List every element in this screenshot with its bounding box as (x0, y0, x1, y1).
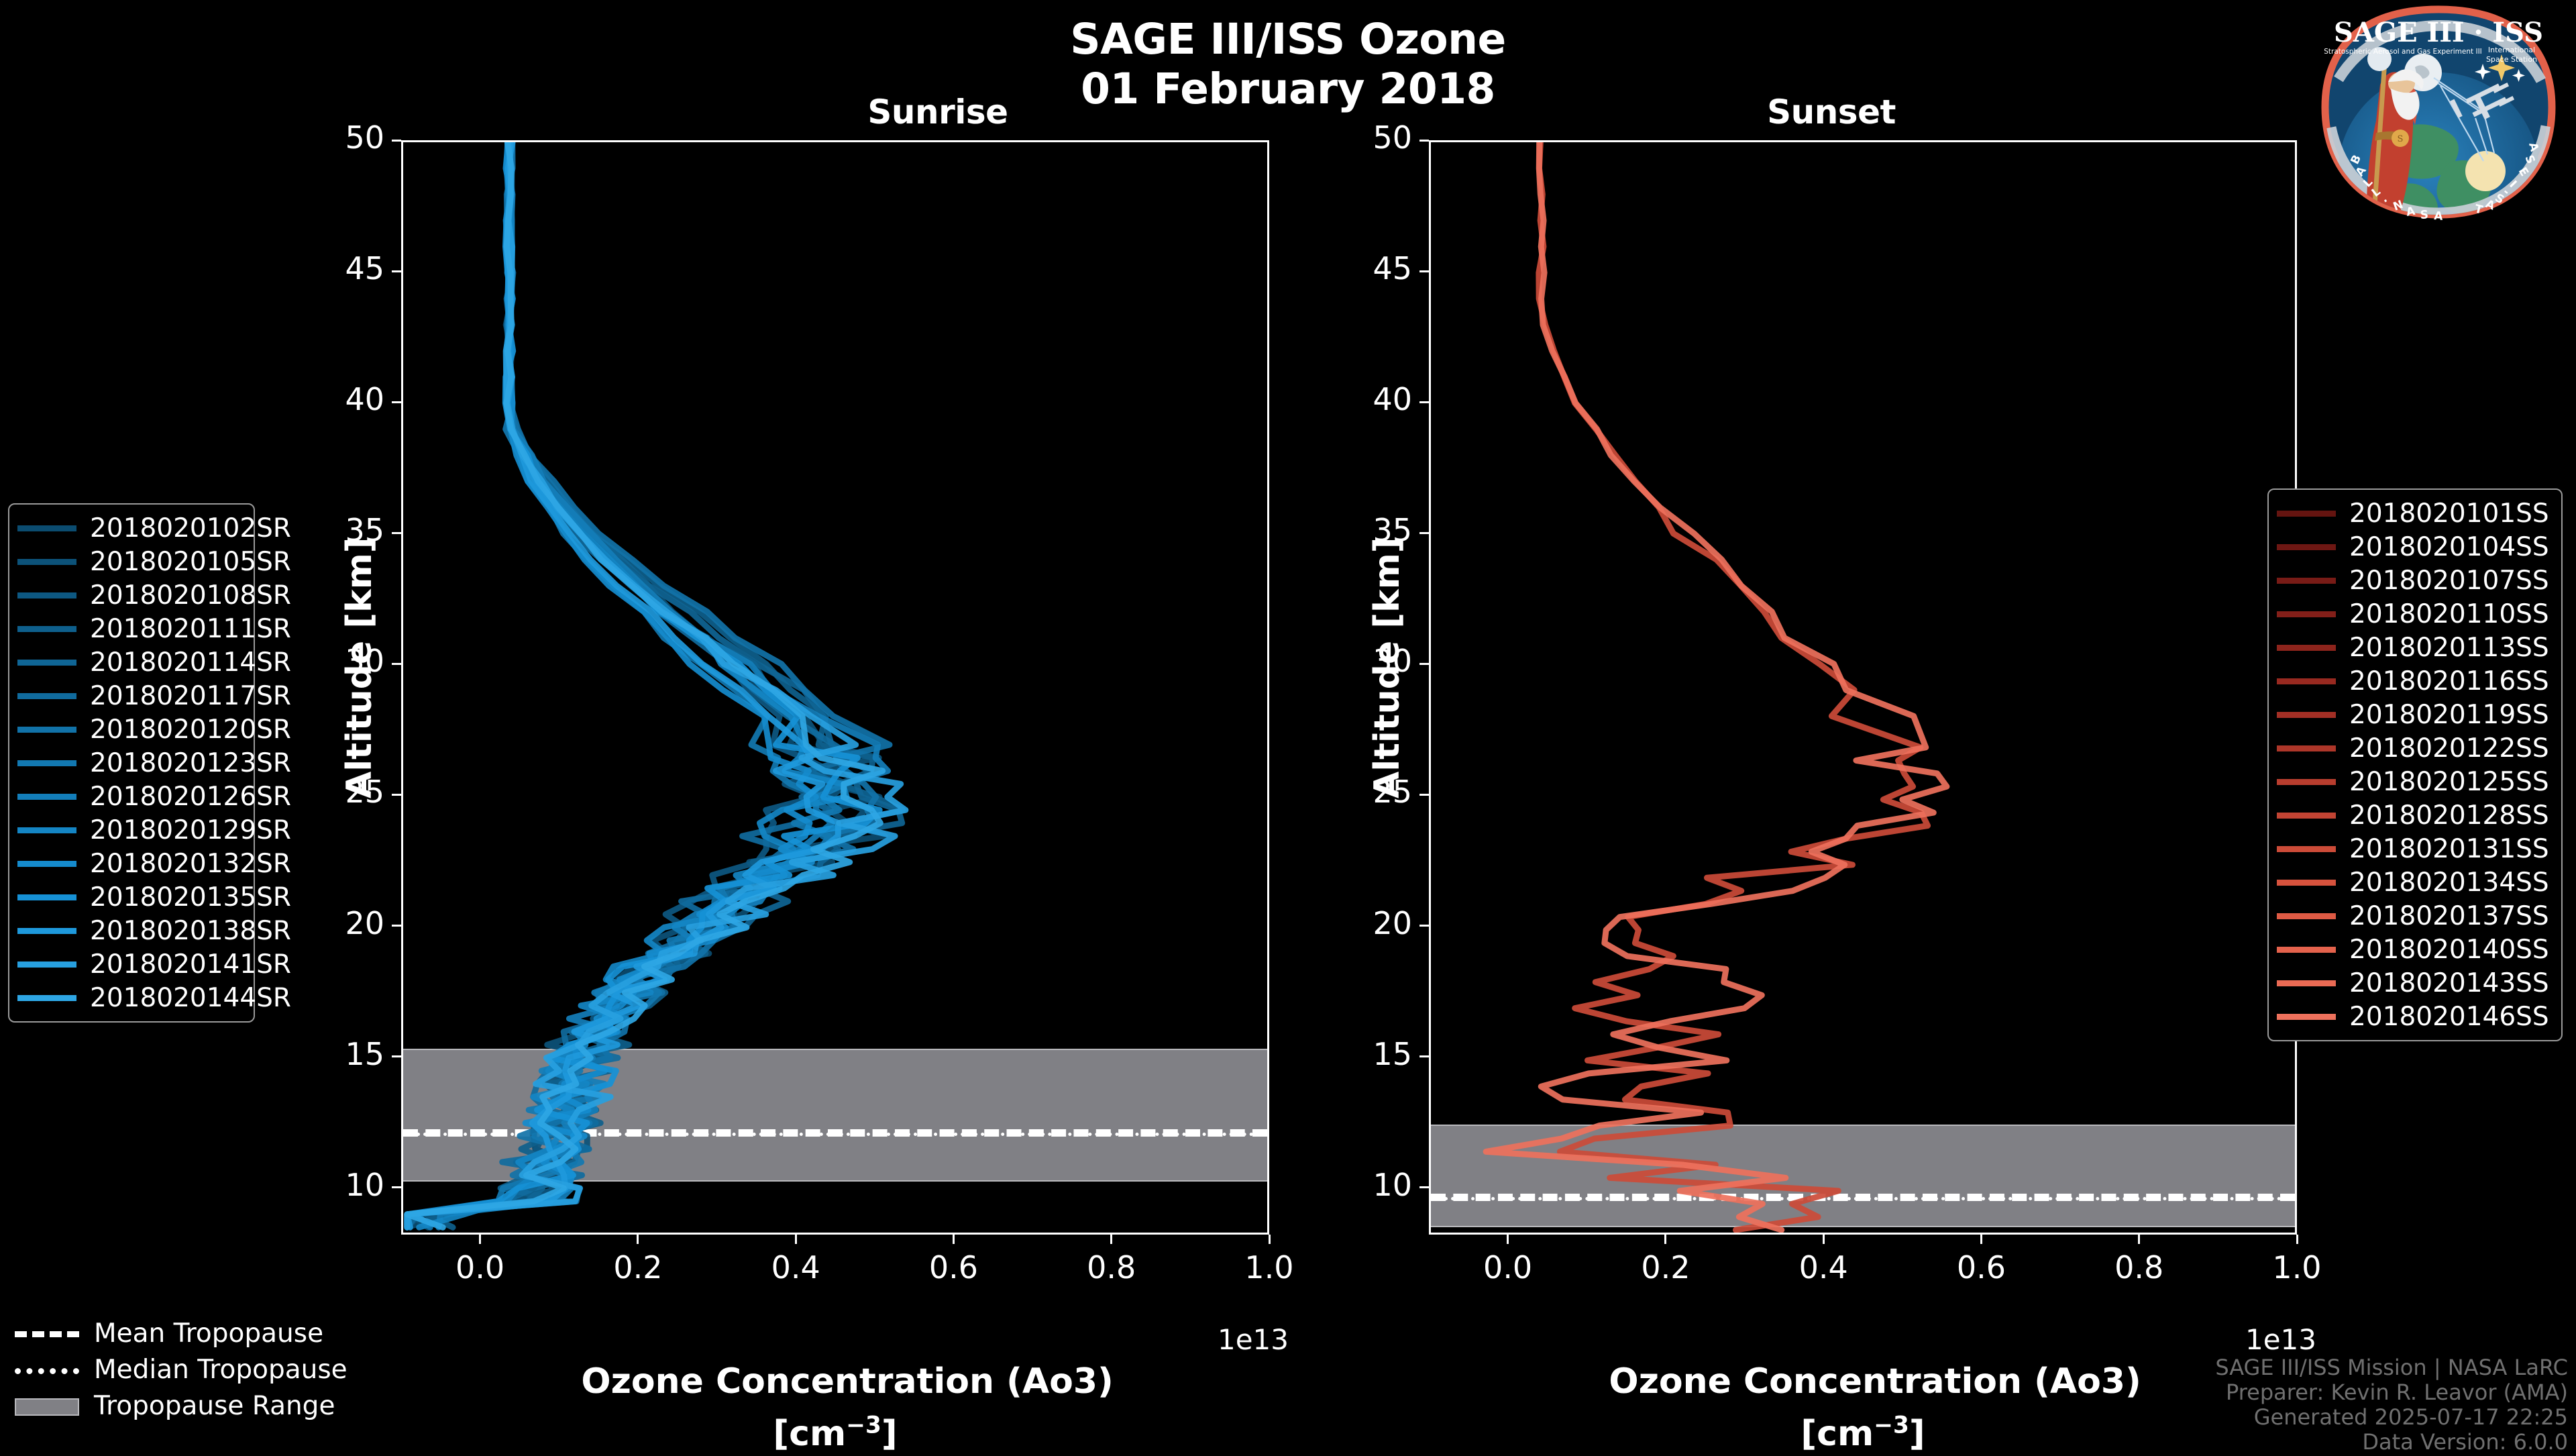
legend-sunset[interactable]: 2018020101SS2018020104SS2018020107SS2018… (2267, 488, 2563, 1041)
legend-item-label: 2018020125SS (2349, 767, 2549, 797)
tropopause-key-label: Mean Tropopause (94, 1318, 323, 1349)
y-tick-label-15: 15 (1275, 1036, 1412, 1072)
profile-line (407, 142, 879, 1227)
legend-item-label: 2018020138SR (90, 916, 291, 946)
legend-item-label: 2018020120SR (90, 715, 291, 745)
legend-item-label: 2018020105SR (90, 547, 291, 577)
profile-line (1486, 142, 1947, 1230)
y-tick-label-20: 20 (1275, 905, 1412, 941)
legend-color-swatch (2277, 779, 2336, 785)
plot-area-sunset (1429, 140, 2297, 1235)
legend-item-label: 2018020137SS (2349, 901, 2549, 931)
credits-block: SAGE III/ISS Mission | NASA LaRC Prepare… (2215, 1355, 2568, 1455)
x-tick-mark (2296, 1235, 2298, 1244)
legend-color-swatch (2277, 645, 2336, 651)
profile-line (1539, 142, 1928, 1230)
x-axis-label-text-sunrise: Ozone Concentration (Ao3) (581, 1361, 1113, 1402)
credits-line-1: SAGE III/ISS Mission | NASA LaRC (2215, 1355, 2568, 1380)
y-tick-mark (392, 663, 401, 665)
y-tick-mark (392, 794, 401, 796)
x-tick-label-0.8: 0.8 (1044, 1249, 1179, 1286)
legend-item-label: 2018020131SS (2349, 834, 2549, 864)
tropopause-key-label: Median Tropopause (94, 1355, 347, 1385)
legend-color-swatch (17, 592, 76, 599)
marker-glyph (15, 1368, 79, 1374)
legend-item-label: 2018020143SS (2349, 968, 2549, 998)
legend-color-swatch (17, 961, 76, 968)
legend-color-swatch (2277, 980, 2336, 986)
ozone-profile-curves-sunrise (403, 142, 1267, 1233)
title-line-1: SAGE III/ISS Ozone (1070, 15, 1506, 64)
legend-item-label: 2018020132SR (90, 849, 291, 879)
legend-color-swatch (17, 894, 76, 900)
legend-item-label: 2018020128SS (2349, 800, 2549, 831)
legend-color-swatch (2277, 913, 2336, 919)
x-tick-label-0.4: 0.4 (1756, 1249, 1890, 1286)
sage3-iss-mission-patch-logo: S SAGE III · ISS Stratospheric Aerosol a… (2316, 5, 2561, 220)
x-tick-mark (1110, 1235, 1112, 1244)
legend-item-label: 2018020129SR (90, 815, 291, 845)
y-tick-label-50: 50 (247, 119, 384, 156)
legend-color-swatch (17, 928, 76, 934)
legend-sunrise-item[interactable]: 2018020129SR (17, 813, 244, 847)
legend-color-swatch (2277, 947, 2336, 953)
x-tick-label-0.2: 0.2 (571, 1249, 705, 1286)
y-tick-label-40: 40 (1275, 381, 1412, 417)
plot-area-sunrise (401, 140, 1269, 1235)
y-tick-mark (1419, 532, 1429, 534)
profile-line (411, 142, 879, 1227)
legend-sunrise[interactable]: 2018020102SR2018020105SR2018020108SR2018… (8, 503, 255, 1023)
tropopause-key-item[interactable]: Mean Tropopause (15, 1315, 330, 1351)
legend-color-swatch (17, 559, 76, 565)
x-tick-label-0.0: 0.0 (413, 1249, 547, 1286)
x-tick-label-0.8: 0.8 (2072, 1249, 2206, 1286)
credits-line-4: Data Version: 6.0.0 (2362, 1429, 2568, 1455)
legend-item-label: 2018020116SS (2349, 666, 2549, 696)
legend-item-label: 2018020123SR (90, 748, 291, 778)
legend-color-swatch (17, 827, 76, 833)
legend-sunrise-item[interactable]: 2018020144SR (17, 981, 244, 1015)
x-tick-label-0.6: 0.6 (1914, 1249, 2048, 1286)
logo-title-text: SAGE III · ISS (2334, 17, 2543, 48)
x-tick-label-1.0: 1.0 (1202, 1249, 1336, 1286)
legend-color-swatch (17, 693, 76, 699)
legend-item-label: 2018020108SR (90, 580, 291, 611)
y-tick-mark (392, 401, 401, 403)
y-tick-label-10: 10 (247, 1167, 384, 1203)
legend-color-swatch (2277, 578, 2336, 584)
y-tick-mark (1419, 1186, 1429, 1188)
legend-item-label: 2018020104SS (2349, 532, 2549, 562)
y-tick-mark (392, 270, 401, 272)
legend-color-swatch (2277, 880, 2336, 886)
legend-sunrise-item[interactable]: 2018020132SR (17, 847, 244, 880)
legend-item-label: 2018020110SS (2349, 599, 2549, 629)
ozone-profile-curves-sunset (1431, 142, 2295, 1233)
y-tick-mark (1419, 925, 1429, 927)
legend-sunrise-item[interactable]: 2018020108SR (17, 578, 244, 612)
legend-sunset-item[interactable]: 2018020104SS (2277, 530, 2552, 564)
legend-sunset-item[interactable]: 2018020101SS (2277, 497, 2552, 530)
logo-subtitle-right-2: Space Station (2486, 55, 2537, 64)
y-tick-label-10: 10 (1275, 1167, 1412, 1203)
x-axis-label-sunset: Ozone Concentration (Ao3)[cm−3] (1429, 1315, 2297, 1456)
legend-sunset-item[interactable]: 2018020119SS (2277, 698, 2552, 731)
profile-line (407, 142, 883, 1227)
legend-color-swatch (2277, 678, 2336, 684)
x-tick-mark (1664, 1235, 1666, 1244)
y-tick-mark (1419, 140, 1429, 142)
legend-sunset-item[interactable]: 2018020140SS (2277, 933, 2552, 966)
tropopause-key-marker-dashed (15, 1326, 79, 1341)
y-tick-mark (1419, 794, 1429, 796)
legend-item-label: 2018020135SR (90, 882, 291, 913)
legend-item-label: 2018020114SR (90, 647, 291, 678)
x-tick-mark (2138, 1235, 2140, 1244)
x-tick-label-0.2: 0.2 (1599, 1249, 1733, 1286)
legend-sunset-item[interactable]: 2018020137SS (2277, 899, 2552, 933)
subplot-title-sunrise: Sunrise (602, 93, 1273, 132)
x-tick-mark (1980, 1235, 1982, 1244)
legend-item-label: 2018020126SR (90, 782, 291, 812)
legend-sunrise-item[interactable]: 2018020120SR (17, 713, 244, 746)
svg-text:S: S (2420, 208, 2428, 220)
legend-color-swatch (2277, 544, 2336, 550)
legend-item-label: 2018020141SR (90, 949, 291, 980)
x-axis-label-sunrise: Ozone Concentration (Ao3)[cm−3] (401, 1315, 1269, 1456)
x-tick-label-0.6: 0.6 (886, 1249, 1020, 1286)
legend-color-swatch (2277, 1014, 2336, 1020)
legend-sunrise-item[interactable]: 2018020105SR (17, 545, 244, 578)
svg-text:A: A (2434, 209, 2444, 220)
legend-color-swatch (17, 626, 76, 632)
profile-line (407, 142, 890, 1227)
legend-color-swatch (2277, 611, 2336, 617)
x-axis-label-text-sunset: Ozone Concentration (Ao3) (1609, 1361, 2141, 1402)
legend-color-swatch (2277, 712, 2336, 718)
legend-item-label: 2018020146SS (2349, 1002, 2549, 1032)
legend-sunrise-item[interactable]: 2018020123SR (17, 746, 244, 780)
legend-sunset-item[interactable]: 2018020128SS (2277, 798, 2552, 832)
x-axis-units-sunset: [cm−3] (1801, 1414, 1925, 1454)
tropopause-key-marker-patch (15, 1398, 79, 1413)
x-axis-exponent-sunrise: 1e13 (1218, 1323, 1289, 1356)
x-tick-mark (637, 1235, 639, 1244)
legend-color-swatch (17, 660, 76, 666)
legend-sunrise-item[interactable]: 2018020117SR (17, 679, 244, 713)
y-tick-label-45: 45 (1275, 250, 1412, 287)
legend-item-label: 2018020119SS (2349, 700, 2549, 730)
tropopause-key-marker-dotted (15, 1362, 79, 1377)
legend-color-swatch (17, 794, 76, 800)
y-tick-mark (1419, 401, 1429, 403)
logo-subtitle-right-1: International (2488, 46, 2535, 54)
profile-line (407, 142, 902, 1227)
credits-line-3: Generated 2025-07-17 22:25 (2254, 1404, 2568, 1430)
x-tick-mark (1823, 1235, 1825, 1244)
y-tick-label-40: 40 (247, 381, 384, 417)
legend-item-label: 2018020144SR (90, 983, 291, 1013)
tropopause-key-item[interactable]: Tropopause Range (15, 1388, 330, 1424)
legend-sunset-item[interactable]: 2018020146SS (2277, 1000, 2552, 1033)
legend-sunset-item[interactable]: 2018020113SS (2277, 631, 2552, 664)
x-tick-mark (953, 1235, 955, 1244)
y-tick-mark (1419, 270, 1429, 272)
legend-sunset-item[interactable]: 2018020122SS (2277, 731, 2552, 765)
subplot-title-sunset: Sunset (1496, 93, 2167, 132)
profile-line (407, 142, 906, 1227)
legend-item-label: 2018020140SS (2349, 935, 2549, 965)
legend-color-swatch (2277, 846, 2336, 852)
legend-item-label: 2018020113SS (2349, 633, 2549, 663)
legend-color-swatch (17, 727, 76, 733)
legend-sunset-item[interactable]: 2018020110SS (2277, 597, 2552, 631)
y-tick-mark (392, 925, 401, 927)
logo-subtitle-left: Stratospheric Aerosol and Gas Experiment… (2324, 48, 2482, 56)
marker-glyph (15, 1398, 79, 1416)
legend-sunrise-item[interactable]: 2018020114SR (17, 645, 244, 679)
legend-sunrise-item[interactable]: 2018020138SR (17, 914, 244, 947)
tropopause-key-label: Tropopause Range (94, 1391, 335, 1421)
y-tick-mark (392, 1055, 401, 1057)
x-tick-mark (795, 1235, 797, 1244)
x-tick-label-0.0: 0.0 (1441, 1249, 1575, 1286)
legend-sunrise-item[interactable]: 2018020102SR (17, 511, 244, 545)
legend-item-label: 2018020134SS (2349, 868, 2549, 898)
y-tick-mark (1419, 1055, 1429, 1057)
legend-item-label: 2018020122SS (2349, 733, 2549, 764)
x-tick-mark (1269, 1235, 1271, 1244)
legend-color-swatch (17, 861, 76, 867)
legend-color-swatch (2277, 511, 2336, 517)
profile-line (407, 142, 885, 1227)
legend-sunrise-item[interactable]: 2018020111SR (17, 612, 244, 645)
svg-text:S: S (2398, 134, 2404, 144)
legend-color-swatch (2277, 813, 2336, 819)
legend-sunset-item[interactable]: 2018020134SS (2277, 866, 2552, 899)
legend-item-label: 2018020101SS (2349, 499, 2549, 529)
legend-sunset-item[interactable]: 2018020107SS (2277, 564, 2552, 597)
y-tick-mark (392, 1186, 401, 1188)
profile-line (407, 142, 839, 1227)
legend-sunrise-item[interactable]: 2018020126SR (17, 780, 244, 813)
legend-sunset-item[interactable]: 2018020143SS (2277, 966, 2552, 1000)
x-tick-label-0.4: 0.4 (729, 1249, 863, 1286)
profile-line (417, 142, 839, 1227)
legend-sunset-item[interactable]: 2018020116SS (2277, 664, 2552, 698)
legend-item-label: 2018020117SR (90, 681, 291, 711)
y-tick-label-45: 45 (247, 250, 384, 287)
y-tick-label-50: 50 (1275, 119, 1412, 156)
legend-sunrise-item[interactable]: 2018020135SR (17, 880, 244, 914)
x-tick-mark (479, 1235, 481, 1244)
tropopause-key-legend[interactable]: Mean TropopauseMedian TropopauseTropopau… (15, 1315, 330, 1424)
profile-line (426, 142, 903, 1227)
y-tick-mark (392, 532, 401, 534)
legend-sunset-item[interactable]: 2018020131SS (2277, 832, 2552, 866)
marker-glyph (15, 1331, 79, 1337)
credits-line-2: Preparer: Kevin R. Leavor (AMA) (2226, 1380, 2568, 1405)
legend-color-swatch (17, 525, 76, 531)
y-axis-label-sunset: Altitude [km] (1367, 537, 1407, 798)
tropopause-key-item[interactable]: Median Tropopause (15, 1351, 330, 1388)
x-tick-mark (1507, 1235, 1509, 1244)
legend-sunset-item[interactable]: 2018020125SS (2277, 765, 2552, 798)
y-tick-mark (392, 140, 401, 142)
y-axis-label-sunrise: Altitude [km] (339, 537, 380, 798)
x-axis-exponent-sunset: 1e13 (2245, 1323, 2316, 1356)
legend-color-swatch (2277, 745, 2336, 751)
x-axis-units-sunrise: [cm−3] (773, 1414, 897, 1454)
legend-item-label: 2018020107SS (2349, 566, 2549, 596)
x-tick-label-1.0: 1.0 (2230, 1249, 2364, 1286)
y-tick-mark (1419, 663, 1429, 665)
legend-item-label: 2018020111SR (90, 614, 291, 644)
legend-item-label: 2018020102SR (90, 513, 291, 543)
legend-color-swatch (17, 995, 76, 1001)
legend-sunrise-item[interactable]: 2018020141SR (17, 947, 244, 981)
y-tick-label-15: 15 (247, 1036, 384, 1072)
legend-color-swatch (17, 760, 76, 766)
page-title: SAGE III/ISS Ozone01 February 2018 (0, 15, 2576, 114)
